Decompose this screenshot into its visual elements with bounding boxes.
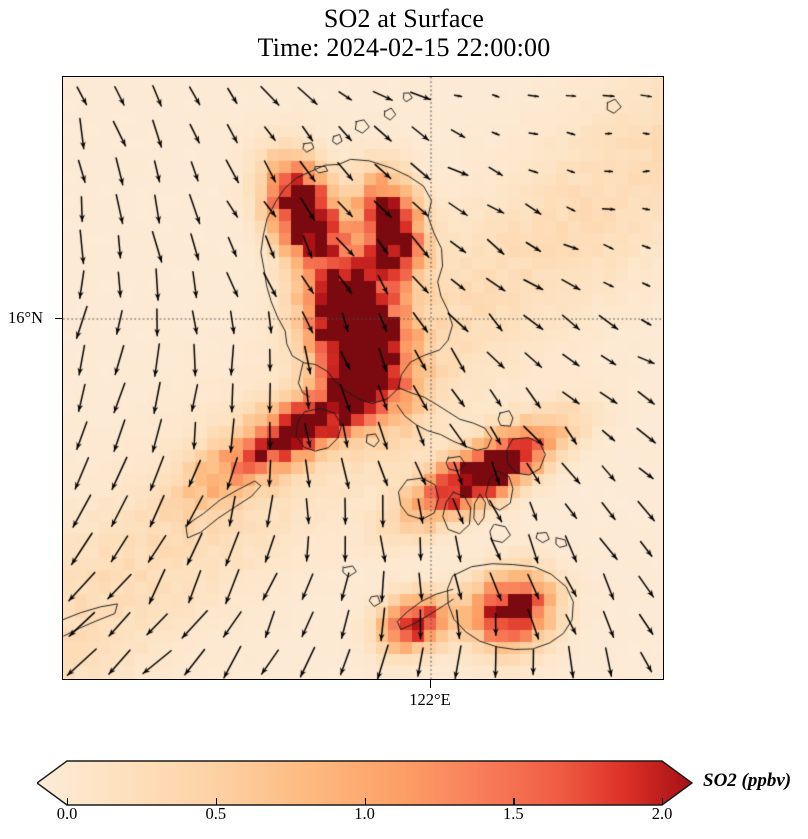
colorbar-tick-label-0: 0.0 — [57, 804, 78, 824]
title-line-time: Time: 2024-02-15 22:00:00 — [0, 33, 808, 62]
x-tick-label-122E: 122°E — [409, 690, 450, 710]
colorbar-tick-label-1: 0.5 — [205, 804, 226, 824]
title-line-variable: SO2 at Surface — [0, 4, 808, 33]
x-tick-mark-122E — [430, 680, 431, 688]
colorbar-tick-label-3: 1.5 — [503, 804, 524, 824]
figure-title: SO2 at Surface Time: 2024-02-15 22:00:00 — [0, 4, 808, 62]
wind-vector-overlay — [63, 77, 664, 680]
colorbar-tick-label-4: 2.0 — [652, 804, 673, 824]
colorbar[interactable]: 0.00.51.01.52.0 SO2 (ppbv) — [0, 752, 808, 839]
y-tick-label-16N: 16°N — [8, 308, 43, 328]
colorbar-unit-label: SO2 (ppbv) — [703, 770, 791, 792]
y-tick-mark-16N — [55, 318, 63, 319]
map-plot-area[interactable] — [62, 76, 664, 680]
colorbar-tick-label-2: 1.0 — [354, 804, 375, 824]
